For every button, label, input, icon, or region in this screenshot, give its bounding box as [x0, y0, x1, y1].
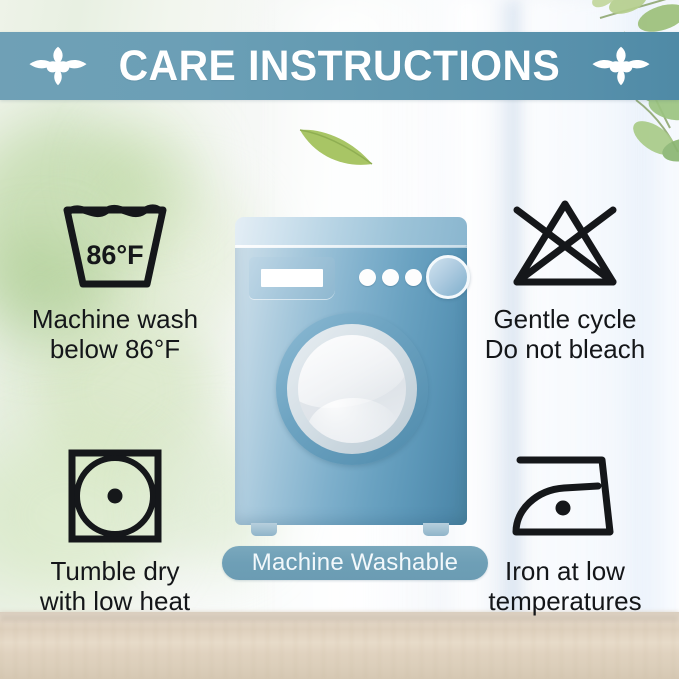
care-symbol-machine-wash: 86°F Machine wash below 86°F: [2, 188, 228, 364]
washer-foot: [251, 523, 277, 536]
fleur-de-lis-icon: [590, 43, 652, 89]
care-symbol-caption: Tumble dry with low heat: [2, 556, 228, 616]
badge-label: Machine Washable: [252, 549, 458, 577]
washer-door: [276, 313, 428, 465]
page-title: CARE INSTRUCTIONS: [119, 42, 561, 91]
washer-button: [382, 269, 399, 286]
fleur-de-lis-icon: [27, 43, 89, 89]
machine-washable-badge: Machine Washable: [222, 546, 488, 580]
washer-button: [359, 269, 376, 286]
washer-panel-divider: [235, 245, 467, 248]
care-instructions-banner: CARE INSTRUCTIONS: [0, 32, 679, 100]
no-bleach-symbol: [452, 188, 678, 300]
washer-door-glass: [298, 335, 406, 443]
triangle-crossed-no-bleach-icon: [509, 196, 621, 292]
washer-door-ring: [287, 324, 417, 454]
detergent-drawer-slot: [261, 269, 323, 287]
wash-temperature-value: 86°F: [59, 240, 171, 271]
care-symbol-no-bleach: Gentle cycle Do not bleach: [452, 188, 678, 364]
iron-low-symbol: [452, 440, 678, 552]
care-symbol-iron-low: Iron at low temperatures: [452, 440, 678, 616]
tumble-dry-low-icon: [66, 447, 164, 545]
washer-top-panel: [235, 217, 467, 247]
care-symbol-tumble-dry: Tumble dry with low heat: [2, 440, 228, 616]
detergent-drawer: [249, 257, 335, 299]
table-grain-texture: [0, 621, 679, 679]
washing-machine-illustration: [227, 205, 475, 535]
iron-one-dot-icon: [506, 450, 624, 542]
tumble-dry-symbol: [2, 440, 228, 552]
washer-button: [405, 269, 422, 286]
machine-wash-symbol: 86°F: [2, 188, 228, 300]
care-symbol-caption: Gentle cycle Do not bleach: [452, 304, 678, 364]
washer-foot: [423, 523, 449, 536]
care-symbol-caption: Machine wash below 86°F: [2, 304, 228, 364]
washer-control-dial: [426, 255, 470, 299]
single-green-leaf-icon: [296, 120, 378, 172]
